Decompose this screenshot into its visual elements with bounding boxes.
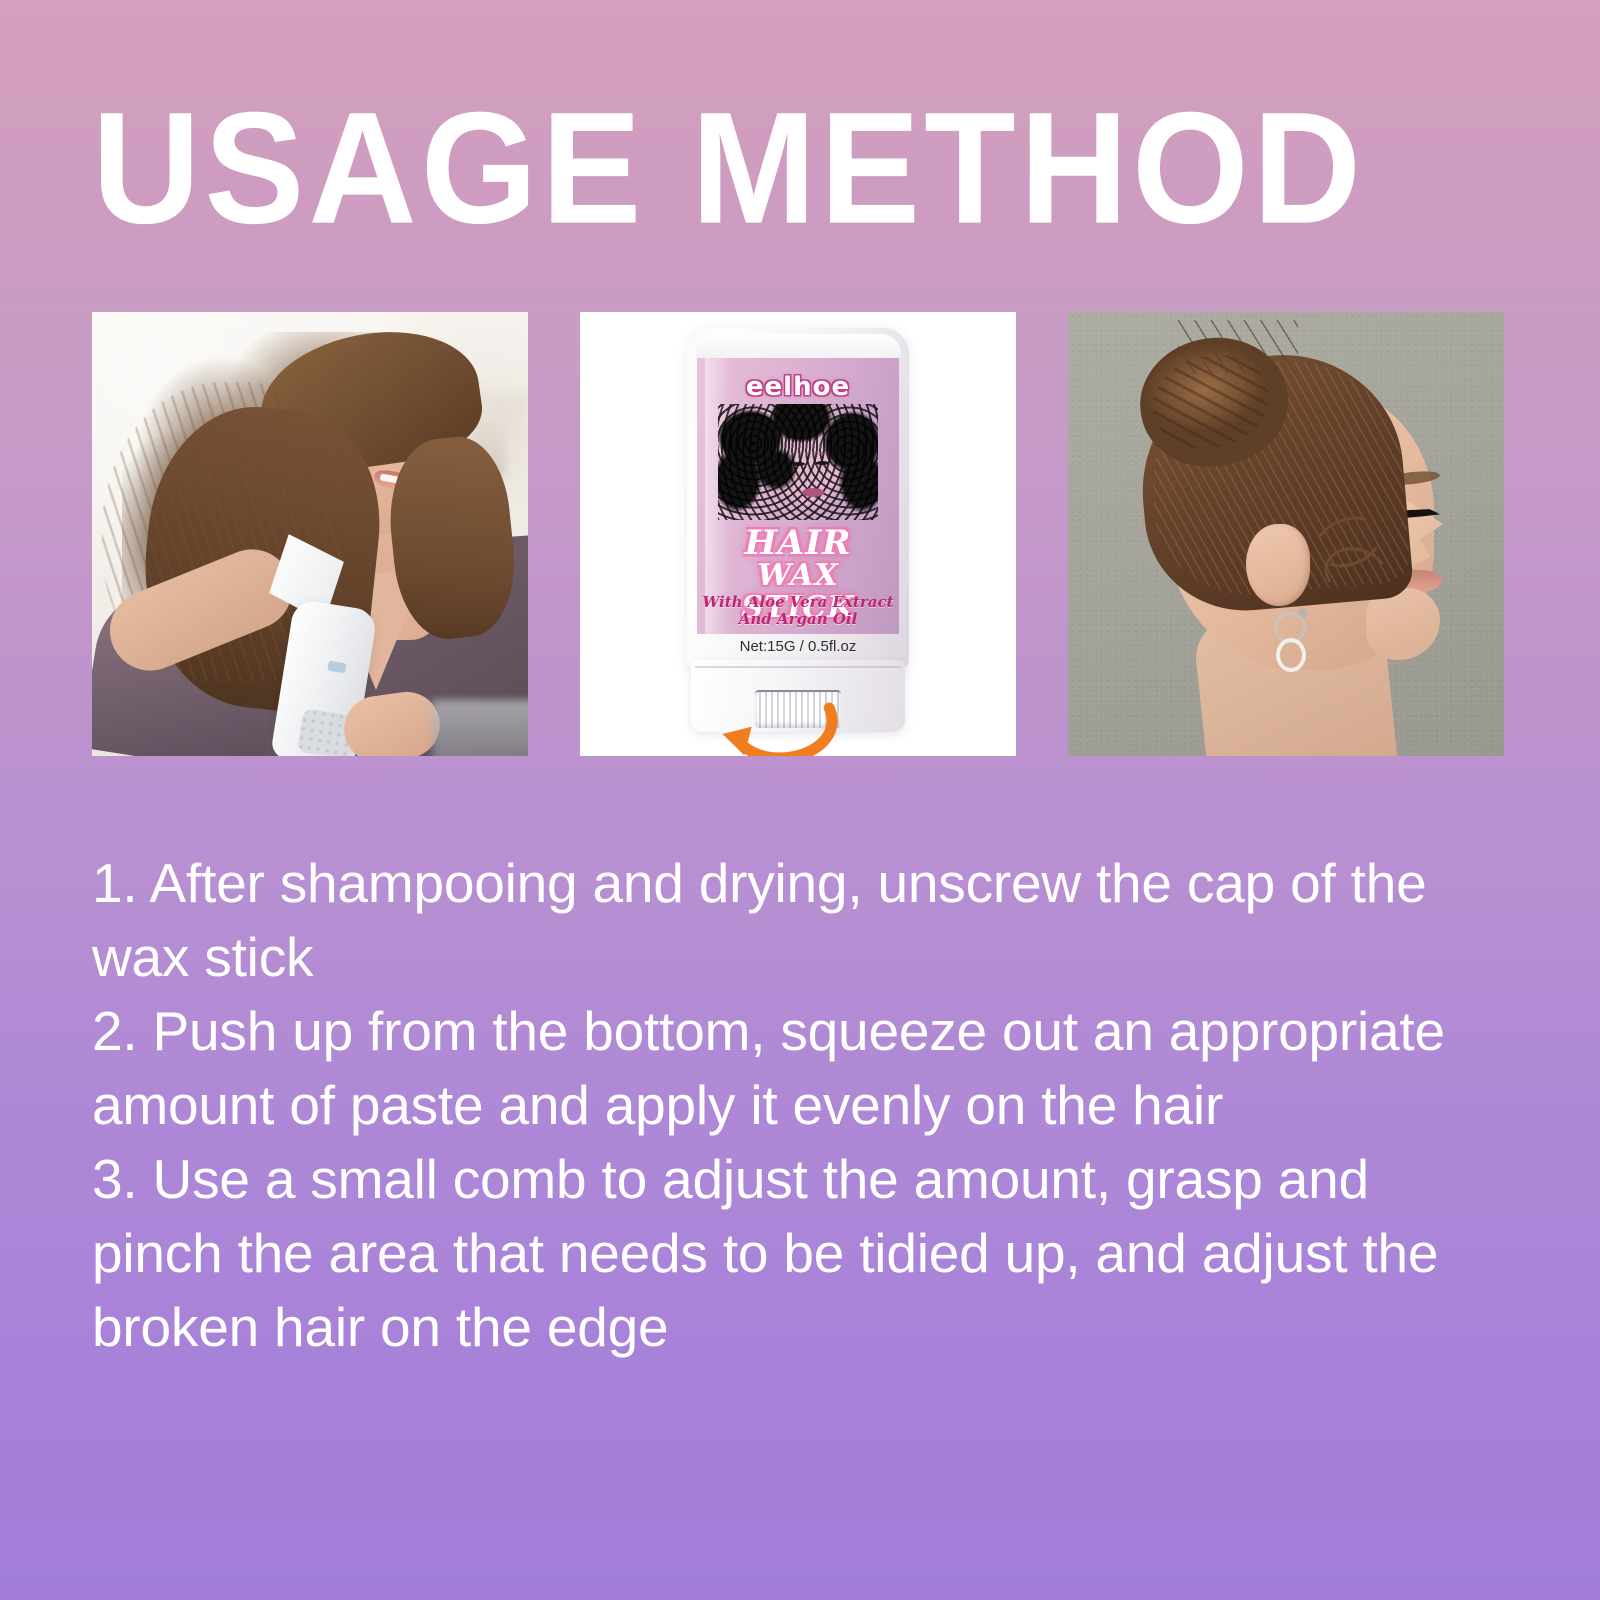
- wax-stick-tube: eelhoe HAIR WAX STICK With A: [687, 328, 909, 738]
- usage-method-poster: USAGE METHOD: [0, 0, 1600, 1600]
- wax-stick-cap-highlight: [695, 334, 901, 360]
- photo1-counter: [432, 700, 528, 756]
- product-name-line1: HAIR: [697, 526, 899, 560]
- instruction-step-2: 2. Push up from the bottom, squeeze out …: [92, 994, 1504, 1142]
- photo-product-wax-stick: eelhoe HAIR WAX STICK With A: [580, 312, 1016, 756]
- product-subtitle-line1: With Aloe Vera Extract: [697, 594, 899, 611]
- photo-strip: eelhoe HAIR WAX STICK With A: [92, 312, 1504, 756]
- wax-stick-label: eelhoe HAIR WAX STICK With A: [697, 358, 899, 634]
- curly-hair-woman-icon: [718, 404, 878, 526]
- brand-name: eelhoe: [697, 372, 899, 402]
- icon-lips: [802, 488, 824, 497]
- product-subtitle-line2: And Argan Oil: [697, 611, 899, 628]
- photo-blow-drying-hair: [92, 312, 528, 756]
- photo-styled-bun-edges: [1068, 312, 1504, 756]
- wax-stick-seam: [695, 666, 901, 668]
- product-subtitle: With Aloe Vera Extract And Argan Oil: [697, 594, 899, 628]
- usage-instructions: 1. After shampooing and drying, unscrew …: [92, 846, 1504, 1364]
- push-up-arrow-icon: [711, 700, 851, 756]
- instruction-step-1: 1. After shampooing and drying, unscrew …: [92, 846, 1504, 994]
- page-title: USAGE METHOD: [92, 88, 1512, 247]
- photo3-drop-earring: [1276, 638, 1306, 672]
- photo3-flyaway-hairs: [1178, 320, 1298, 374]
- icon-eye-right: [816, 461, 829, 465]
- instruction-step-3: 3. Use a small comb to adjust the amount…: [92, 1142, 1504, 1364]
- photo3-ear: [1246, 524, 1310, 606]
- icon-eye-left: [792, 462, 805, 466]
- net-weight-text: Net:15G / 0.5fl.oz: [687, 638, 909, 655]
